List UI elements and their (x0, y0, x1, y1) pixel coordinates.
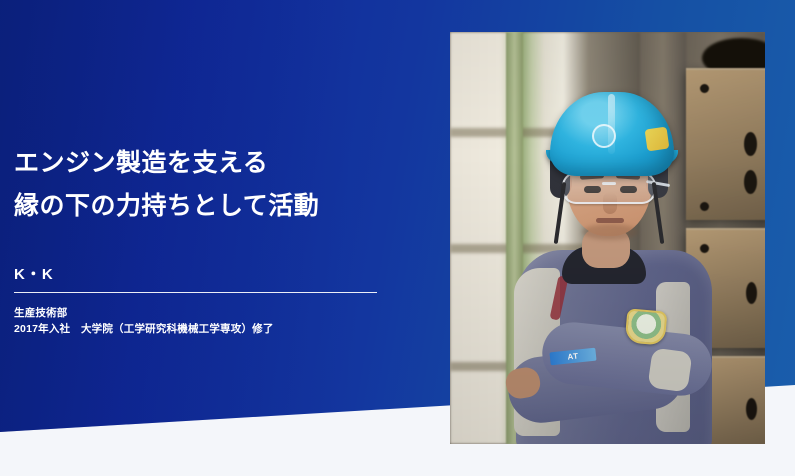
hard-hat-sticker (645, 127, 670, 152)
employee-name: K・K (14, 263, 54, 284)
mouth (596, 218, 624, 223)
employee-department: 生産技術部 (14, 305, 274, 321)
hard-hat-emblem-icon (592, 124, 616, 148)
hero-content: エンジン製造を支える 縁の下の力持ちとして活動 K・K 生産技術部 2017年入… (14, 0, 414, 476)
divider (14, 292, 377, 293)
headline-line-1: エンジン製造を支える (14, 142, 434, 185)
page-title: エンジン製造を支える 縁の下の力持ちとして活動 (14, 142, 434, 228)
safety-goggles-icon (562, 172, 656, 204)
employee-interview-hero: エンジン製造を支える 縁の下の力持ちとして活動 K・K 生産技術部 2017年入… (0, 0, 795, 476)
headline-line-2: 縁の下の力持ちとして活動 (14, 185, 434, 228)
goggles-bridge (602, 182, 616, 185)
employee-joining-info: 2017年入社 大学院（工学研究科機械工学専攻）修了 (14, 321, 274, 337)
employee-meta: 生産技術部 2017年入社 大学院（工学研究科機械工学専攻）修了 (14, 305, 274, 337)
chin-shadow (582, 224, 638, 240)
worker-figure: AT (450, 32, 765, 444)
sleeve-cuff (647, 347, 692, 392)
employee-photo: AT (450, 32, 765, 444)
